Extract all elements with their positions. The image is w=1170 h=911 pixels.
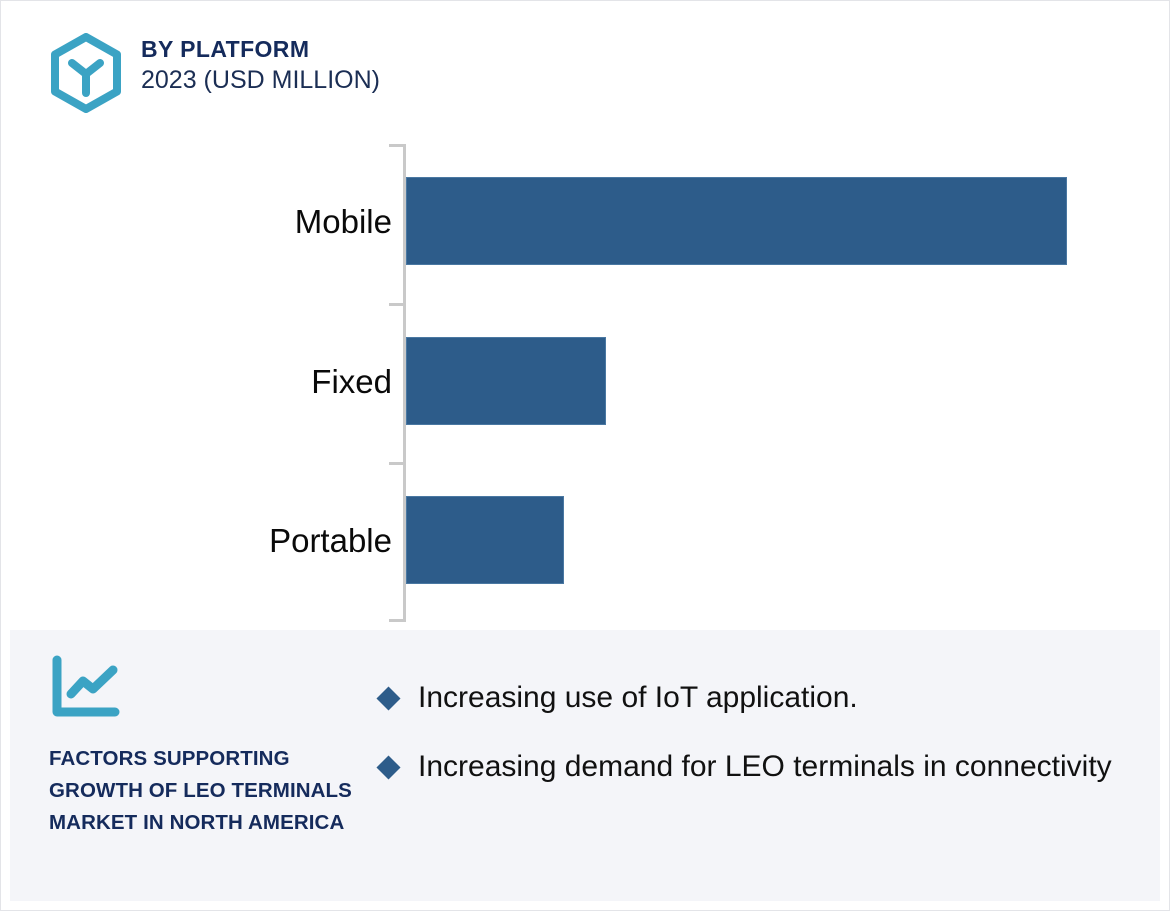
factor-text: Increasing use of IoT application.	[418, 678, 858, 719]
bar-label-mobile: Mobile	[62, 205, 392, 238]
bar-chart: Mobile Fixed Portable	[1, 141, 1170, 631]
line-chart-icon	[49, 654, 121, 720]
table-row: Mobile	[1, 141, 1170, 301]
page-subtitle: 2023 (USD MILLION)	[141, 65, 380, 96]
header: BY PLATFORM 2023 (USD MILLION)	[49, 31, 380, 113]
footer-heading: FACTORS SUPPORTING GROWTH OF LEO TERMINA…	[49, 743, 359, 838]
list-item: Increasing use of IoT application.	[380, 678, 1120, 719]
diamond-bullet-icon	[376, 686, 400, 710]
hexagon-y-icon	[49, 33, 123, 113]
page-title: BY PLATFORM	[141, 35, 380, 63]
header-text-block: BY PLATFORM 2023 (USD MILLION)	[141, 31, 380, 96]
footer-left-column: FACTORS SUPPORTING GROWTH OF LEO TERMINA…	[49, 654, 359, 838]
diamond-bullet-icon	[376, 755, 400, 779]
bar-mobile	[406, 177, 1067, 265]
table-row: Fixed	[1, 301, 1170, 461]
footer-panel: FACTORS SUPPORTING GROWTH OF LEO TERMINA…	[10, 630, 1160, 901]
factors-list: Increasing use of IoT application. Incre…	[380, 678, 1120, 816]
table-row: Portable	[1, 460, 1170, 620]
bar-fixed	[406, 337, 606, 425]
bar-label-portable: Portable	[62, 524, 392, 557]
bar-label-fixed: Fixed	[62, 365, 392, 398]
list-item: Increasing demand for LEO terminals in c…	[380, 747, 1120, 788]
bar-portable	[406, 496, 564, 584]
factor-text: Increasing demand for LEO terminals in c…	[418, 747, 1112, 788]
infographic-card: BY PLATFORM 2023 (USD MILLION) Mobile Fi…	[0, 0, 1170, 911]
